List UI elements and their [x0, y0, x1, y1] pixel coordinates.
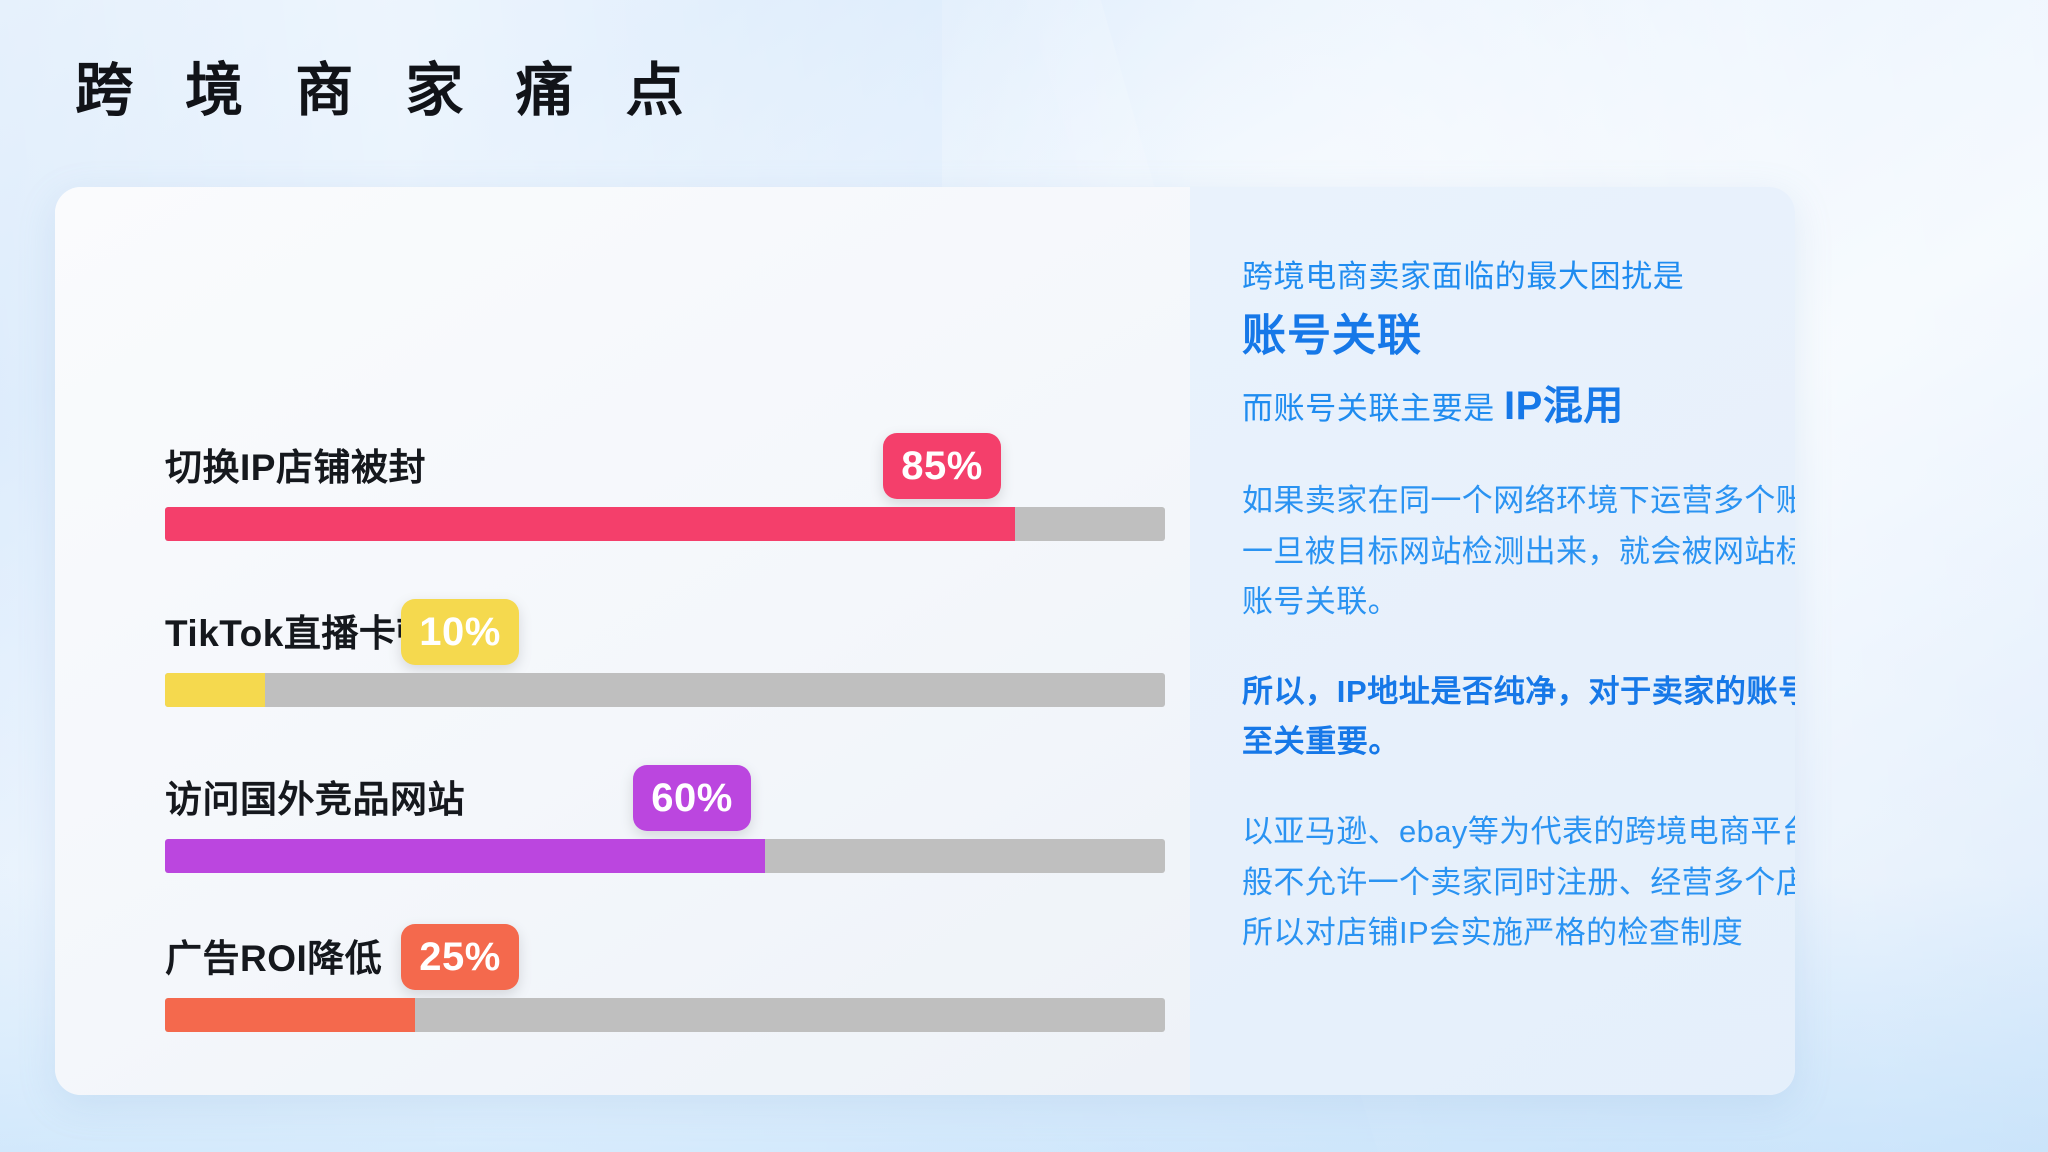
bar-row: 访问国外竞品网站60%	[165, 755, 1165, 873]
bar-value-badge: 25%	[401, 924, 519, 990]
paragraph-list: 如果卖家在同一个网络环境下运营多个账号，一旦被目标网站检测出来，就会被网站标记为…	[1242, 476, 1795, 958]
paragraph-line: 以亚马逊、ebay等为代表的跨境电商平台一	[1242, 807, 1795, 857]
bar-header: TikTok直播卡顿10%	[165, 589, 1165, 661]
paragraph-line: 所以对店铺IP会实施严格的检查制度	[1242, 908, 1795, 958]
headline-text: 账号关联	[1242, 306, 1795, 365]
paragraph-line: 账号关联。	[1242, 577, 1795, 627]
bar-label: 广告ROI降低	[165, 928, 382, 982]
bar-row: TikTok直播卡顿10%	[165, 589, 1165, 707]
bar-header: 广告ROI降低25%	[165, 914, 1165, 986]
paragraph-line: 所以，IP地址是否纯净，对于卖家的账号来说	[1242, 667, 1795, 717]
bar-track	[165, 998, 1165, 1032]
bar-fill	[165, 998, 415, 1032]
bar-fill	[165, 839, 765, 873]
bar-fill	[165, 673, 265, 707]
bar-label: TikTok直播卡顿	[165, 603, 434, 657]
paragraph: 以亚马逊、ebay等为代表的跨境电商平台一般不允许一个卖家同时注册、经营多个店铺…	[1242, 807, 1795, 958]
bar-value-badge: 85%	[883, 433, 1001, 499]
bar-label: 切换IP店铺被封	[165, 437, 426, 491]
bar-track	[165, 839, 1165, 873]
page-title: 跨 境 商 家 痛 点	[75, 62, 702, 120]
paragraph-line: 般不允许一个卖家同时注册、经营多个店铺，	[1242, 858, 1795, 908]
bar-header: 访问国外竞品网站60%	[165, 755, 1165, 827]
bar-value-badge: 10%	[401, 599, 519, 665]
content-card: 切换IP店铺被封85%TikTok直播卡顿10%访问国外竞品网站60%广告ROI…	[55, 187, 1795, 1095]
paragraph-line: 至关重要。	[1242, 717, 1795, 767]
paragraph-line: 如果卖家在同一个网络环境下运营多个账号，	[1242, 476, 1795, 526]
paragraph-line: 一旦被目标网站检测出来，就会被网站标记为	[1242, 527, 1795, 577]
bar-fill	[165, 507, 1015, 541]
bar-label: 访问国外竞品网站	[165, 769, 465, 823]
subline-strong: IP混用	[1504, 384, 1624, 428]
subline: 而账号关联主要是 IP混用	[1242, 376, 1795, 437]
subline-prefix: 而账号关联主要是	[1242, 391, 1495, 426]
slide-root: 跨 境 商 家 痛 点 切换IP店铺被封85%TikTok直播卡顿10%访问国外…	[0, 0, 2048, 1152]
description-panel: 跨境电商卖家面临的最大困扰是 账号关联 而账号关联主要是 IP混用 如果卖家在同…	[1190, 187, 1795, 1095]
bar-row: 广告ROI降低25%	[165, 914, 1165, 1032]
paragraph: 如果卖家在同一个网络环境下运营多个账号，一旦被目标网站检测出来，就会被网站标记为…	[1242, 476, 1795, 627]
bar-track	[165, 507, 1165, 541]
bar-track	[165, 673, 1165, 707]
bar-chart-panel: 切换IP店铺被封85%TikTok直播卡顿10%访问国外竞品网站60%广告ROI…	[55, 187, 1190, 1095]
bar-row: 切换IP店铺被封85%	[165, 423, 1165, 541]
bar-value-badge: 60%	[633, 765, 751, 831]
bar-header: 切换IP店铺被封85%	[165, 423, 1165, 495]
lead-text: 跨境电商卖家面临的最大困扰是	[1242, 253, 1795, 300]
paragraph: 所以，IP地址是否纯净，对于卖家的账号来说至关重要。	[1242, 667, 1795, 767]
